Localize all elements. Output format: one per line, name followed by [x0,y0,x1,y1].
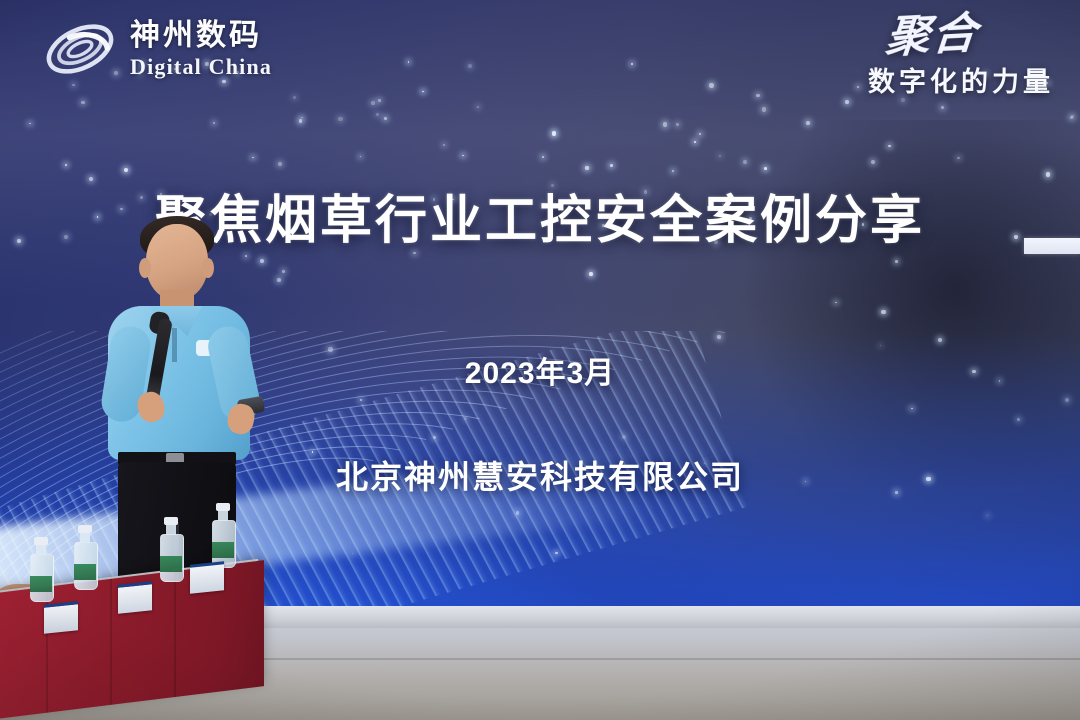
bottle-cap [34,537,48,545]
particle-dot [1017,418,1020,421]
particle-dot [719,155,721,157]
water-bottle [160,534,182,582]
particle-dot [987,515,988,516]
particle-dot [222,80,225,83]
particle-dot [360,156,362,158]
event-calligraphy: 聚合 [884,12,980,61]
particle-dot [65,164,67,166]
particle-dot [871,160,875,164]
bottle-cap [216,503,230,511]
particle-dot [806,121,810,125]
particle-dot [62,569,63,570]
particle-dot [676,123,679,126]
particle-dot [622,435,626,439]
particle-dot [835,302,837,304]
particle-dot [299,119,302,122]
particle-dot [857,86,859,88]
particle-dot [124,168,128,172]
particle-dot [516,511,519,514]
presentation-photo: 神州数码 Digital China 聚合 数字化的力量 聚焦烟草行业工控安全案… [0,0,1080,720]
particle-dot [542,156,544,158]
particle-dot [672,170,674,172]
speaker-ear-left [139,258,151,278]
bottle-label [74,564,96,580]
particle-dot [709,83,714,88]
table-cloth-fold [174,571,176,697]
particle-dot [1071,115,1074,118]
particle-dot [464,417,467,420]
particle-dot [462,155,464,157]
particle-dot [29,123,30,124]
particle-dot [1065,398,1069,402]
particle-dot [663,122,667,126]
particle-dot [338,117,342,121]
particle-dot [555,552,558,555]
water-bottle [30,554,52,602]
particle-dot [631,63,633,65]
particle-dot [443,144,445,146]
digital-china-logo: 神州数码 Digital China [42,18,272,80]
brand-name-cn: 神州数码 [130,21,272,51]
particle-dot [376,113,379,116]
wall-sign-strip [1024,238,1080,254]
particle-dot [1046,172,1050,176]
bottle-label [212,542,234,558]
particle-dot [888,145,891,148]
particle-dot [72,84,75,87]
particle-dot [756,94,759,97]
particle-dot [845,100,849,104]
particle-dot [938,338,942,342]
particle-dot [881,310,885,314]
table-cloth-fold [110,579,112,705]
particle-dot [764,167,767,170]
event-subtitle: 数字化的力量 [868,60,1054,99]
bottle-cap [78,525,92,533]
particle-dot [941,106,944,109]
particle-dot [301,117,302,118]
particle-dot [408,61,409,62]
brand-name-en: Digital China [130,56,272,78]
particle-dot [371,101,375,105]
water-bottle [74,542,96,590]
digital-china-swirl-logo-icon [42,18,118,80]
particle-dot [422,91,424,93]
bottle-label [160,556,182,572]
particle-dot [477,106,478,107]
particle-dot [384,117,387,120]
particle-dot [880,345,881,346]
particle-dot [360,399,362,401]
name-placard [118,581,152,614]
name-placard [190,561,224,594]
particle-dot [957,157,959,159]
speaker-placket [172,328,177,362]
particle-dot [433,436,436,439]
particle-dot [252,157,254,159]
particle-dot [694,141,696,143]
particle-dot [293,96,296,99]
particle-dot [743,160,747,164]
speaker-ear-right [202,258,214,278]
particle-dot [378,99,381,102]
particle-dot [213,122,215,124]
particle-dot [911,408,912,409]
particle-dot [81,101,84,104]
bottle-cap [164,517,178,525]
particle-dot [762,107,766,111]
particle-dot [352,553,354,555]
particle-dot [589,272,593,276]
bottle-label [30,576,52,592]
particle-dot [552,131,556,135]
particle-dot [585,166,588,169]
speaker-head [146,224,208,300]
particle-dot [610,164,613,167]
particle-dot [278,162,282,166]
particle-dot [699,133,701,135]
particle-dot [895,260,898,263]
particle-dot [468,64,472,68]
event-logo: 聚合 数字化的力量 [868,14,1054,99]
particle-dot [717,335,721,339]
name-placard [44,601,78,634]
